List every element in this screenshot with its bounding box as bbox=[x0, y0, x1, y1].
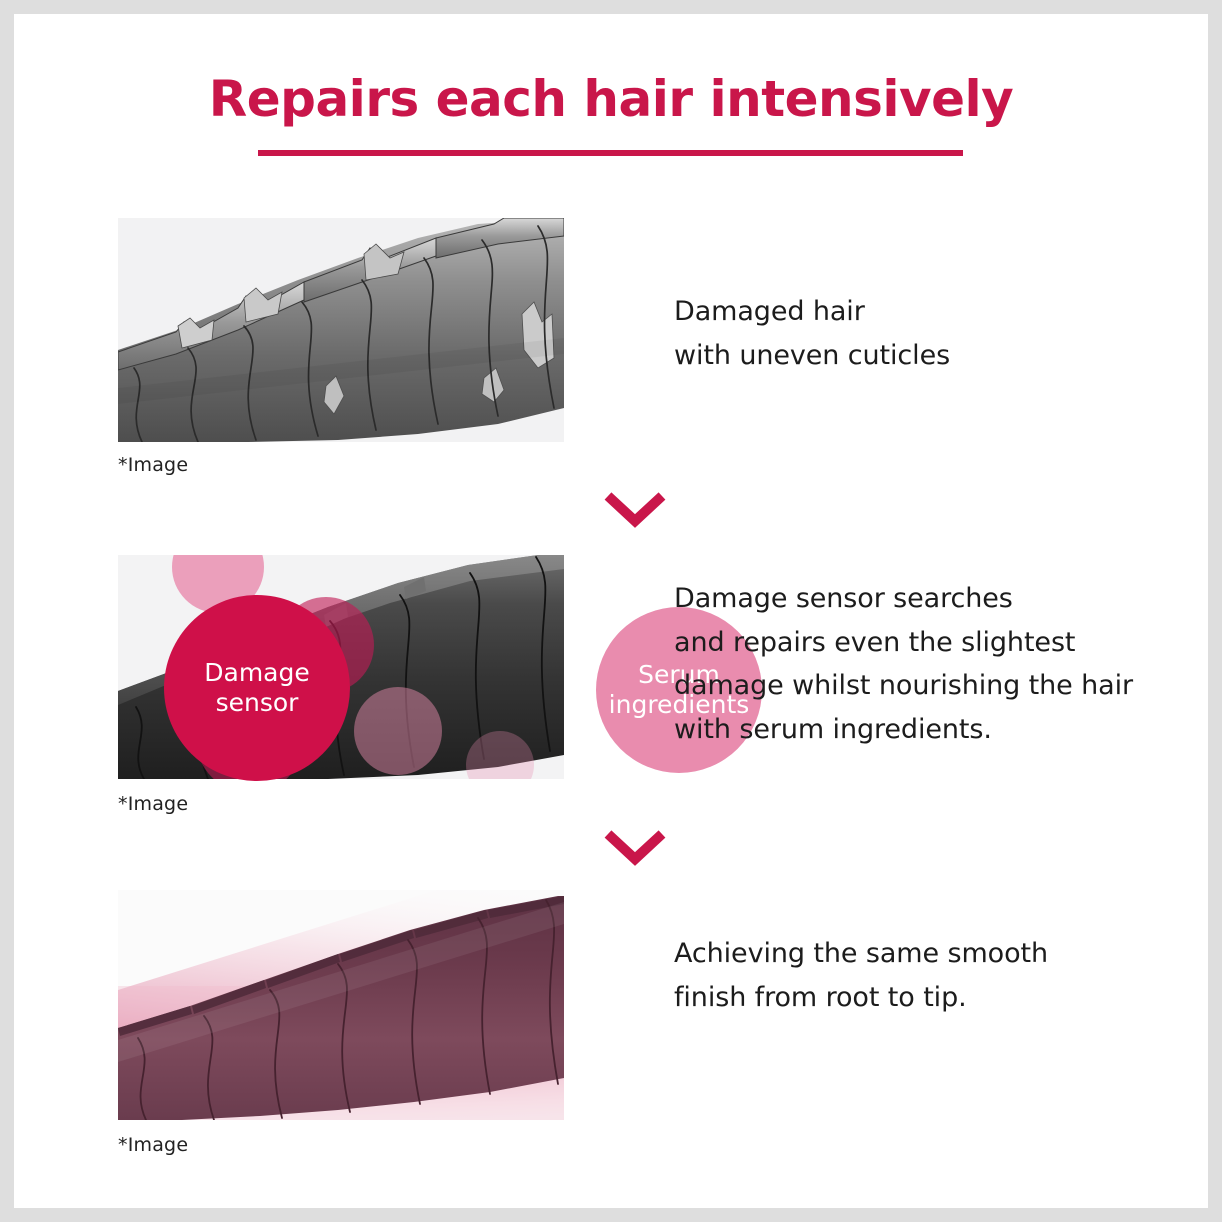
description-line: damage whilst nourishing the hair bbox=[674, 664, 1133, 708]
description-line: with uneven cuticles bbox=[674, 334, 950, 378]
step-description-repaired-hair: Achieving the same smooth finish from ro… bbox=[674, 932, 1048, 1019]
hair-image-repaired bbox=[118, 890, 564, 1120]
description-line: Damaged hair bbox=[674, 290, 950, 334]
chevron-down-icon bbox=[602, 826, 668, 870]
image-caption: *Image bbox=[118, 1134, 188, 1156]
repaired-hair-illustration bbox=[118, 890, 564, 1120]
chevron-down-icon bbox=[602, 488, 668, 532]
bubble-line: Damage bbox=[204, 658, 310, 687]
description-line: and repairs even the slightest bbox=[674, 621, 1133, 665]
image-caption: *Image bbox=[118, 454, 188, 476]
title-underline-rule bbox=[258, 150, 963, 156]
page-title: Repairs each hair intensively bbox=[14, 72, 1208, 127]
content-frame: Repairs each hair intensively bbox=[14, 14, 1208, 1208]
page-title-wrapper: Repairs each hair intensively bbox=[14, 72, 1208, 127]
description-line: finish from root to tip. bbox=[674, 976, 1048, 1020]
step-description-damage-sensor: Damage sensor searches and repairs even … bbox=[674, 577, 1133, 752]
damaged-hair-illustration bbox=[118, 218, 564, 442]
description-line: Damage sensor searches bbox=[674, 577, 1133, 621]
label-bubble-damage-sensor: Damage sensor bbox=[164, 595, 350, 781]
description-line: Achieving the same smooth bbox=[674, 932, 1048, 976]
bubble-line: sensor bbox=[216, 688, 299, 717]
hair-image-damaged bbox=[118, 218, 564, 442]
step-description-damaged-hair: Damaged hair with uneven cuticles bbox=[674, 290, 950, 377]
bubble-blob bbox=[354, 687, 442, 775]
image-caption: *Image bbox=[118, 793, 188, 815]
description-line: with serum ingredients. bbox=[674, 708, 1133, 752]
